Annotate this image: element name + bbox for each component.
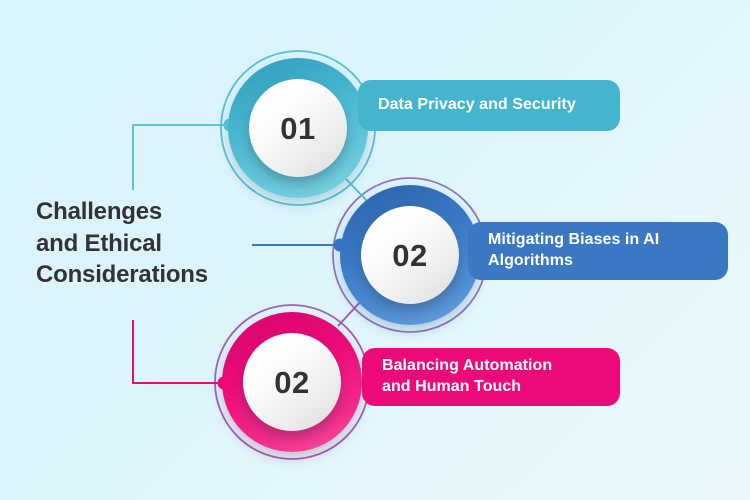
step-label-2-line-1: Mitigating Biases in AI	[488, 230, 659, 251]
step-number-1: 01	[280, 113, 315, 144]
step-label-text-1: Data Privacy and Security	[378, 95, 576, 116]
step-label-pill-3[interactable]: Balancing Automation and Human Touch	[362, 348, 620, 406]
leader-line-3	[133, 320, 222, 383]
step-label-2-line-2: Algorithms	[488, 251, 659, 272]
step-label-1-line-1: Data Privacy and Security	[378, 95, 576, 116]
step-label-pill-2[interactable]: Mitigating Biases in AI Algorithms	[468, 222, 728, 280]
step-disc-2: 02	[361, 206, 459, 304]
step-node-2[interactable]: 02	[340, 185, 480, 325]
step-disc-1: 01	[249, 79, 347, 177]
infographic-canvas: Challenges and Ethical Considerations 01	[0, 0, 750, 500]
step-number-2: 02	[392, 240, 427, 271]
step-node-3[interactable]: 02	[222, 312, 362, 452]
step-label-3-line-1: Balancing Automation	[382, 356, 552, 377]
step-number-3: 02	[274, 367, 309, 398]
step-label-text-2: Mitigating Biases in AI Algorithms	[488, 230, 659, 272]
step-label-3-line-2: and Human Touch	[382, 377, 552, 398]
step-label-text-3: Balancing Automation and Human Touch	[382, 356, 552, 398]
leader-line-1	[133, 125, 228, 190]
step-node-1[interactable]: 01	[228, 58, 368, 198]
step-disc-3: 02	[243, 333, 341, 431]
step-label-pill-1[interactable]: Data Privacy and Security	[358, 80, 620, 131]
